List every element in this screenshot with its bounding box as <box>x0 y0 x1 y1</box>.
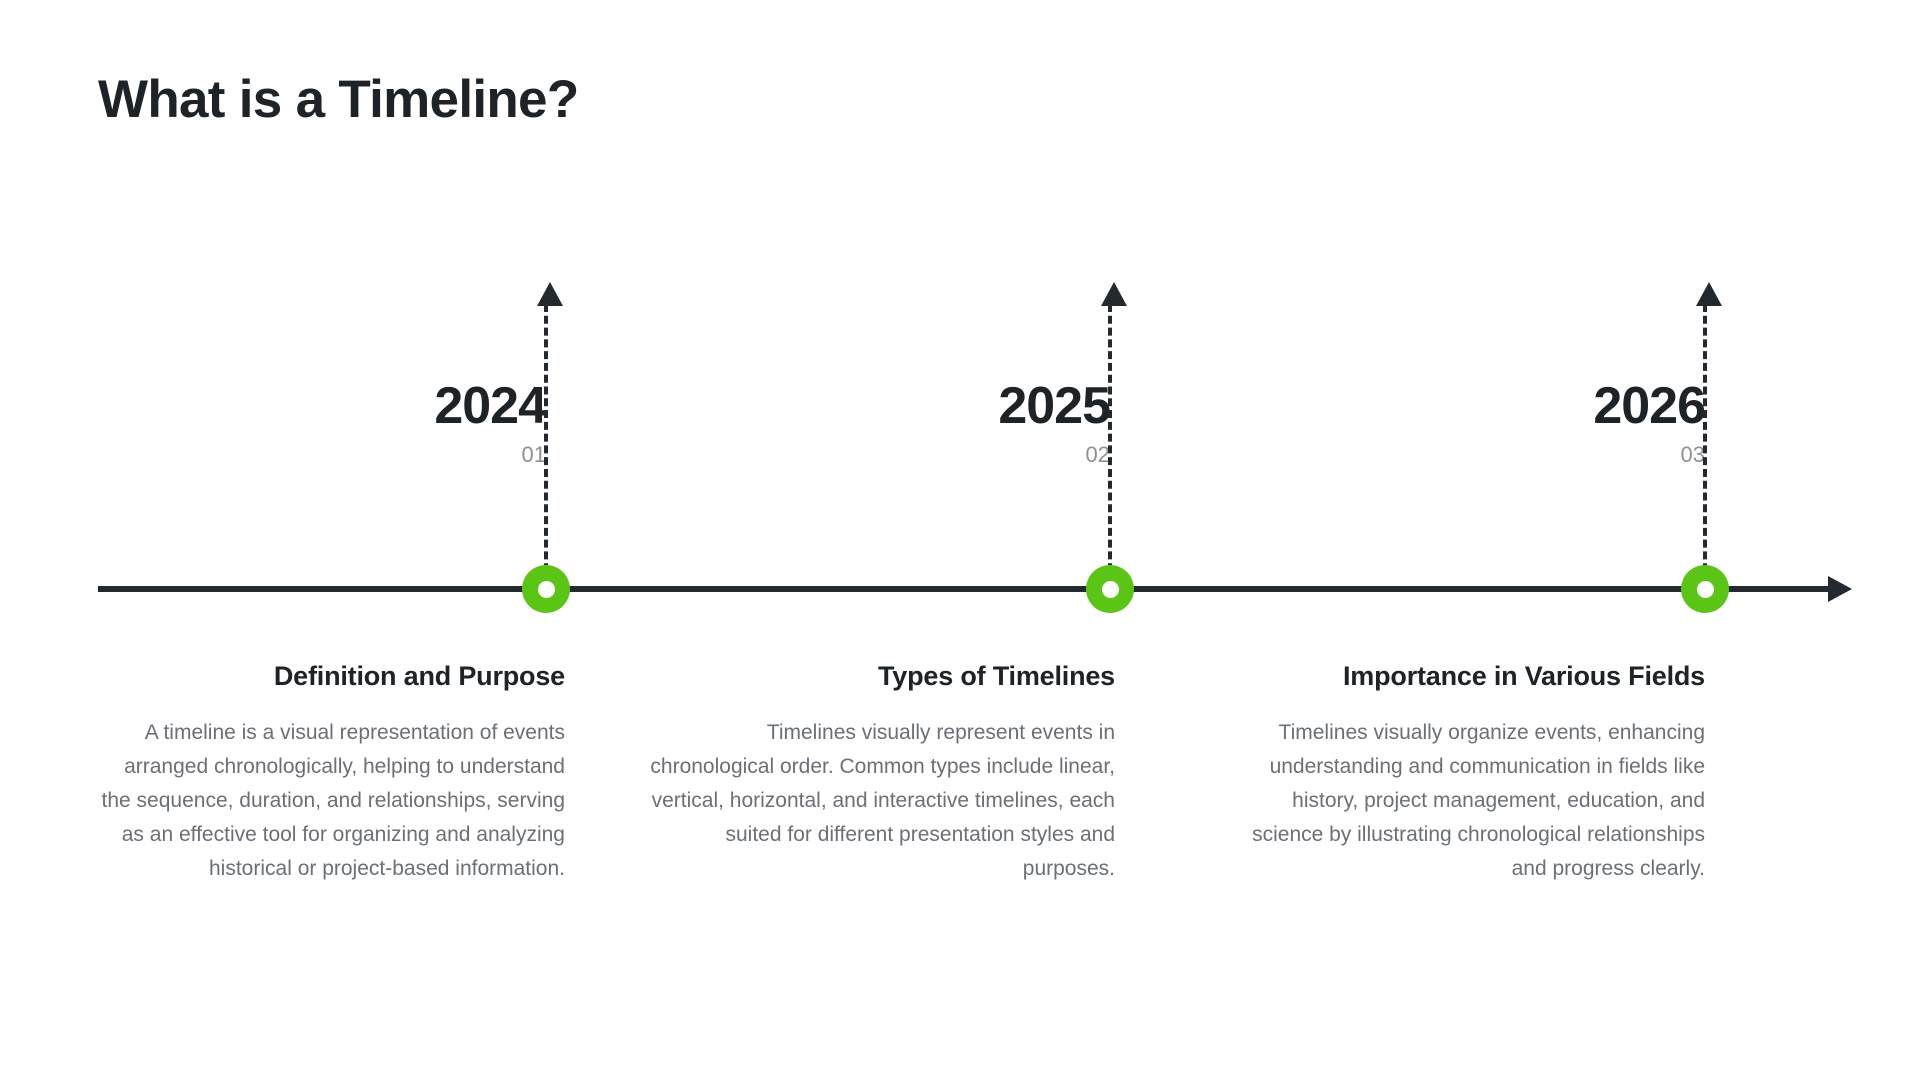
arrow-up-head-icon <box>1696 282 1722 306</box>
description-body-2: Timelines visually represent events in c… <box>645 716 1115 886</box>
circle-node-icon[interactable] <box>1681 565 1729 613</box>
year-index-3: 03 <box>1365 444 1705 466</box>
arrow-up-dashed-icon <box>544 304 548 583</box>
description-column-1: Definition and Purpose A timeline is a v… <box>95 660 565 886</box>
arrow-up-head-icon <box>1101 282 1127 306</box>
arrow-up-dashed-icon <box>1108 304 1112 583</box>
page-title: What is a Timeline? <box>98 68 579 132</box>
description-body-3: Timelines visually organize events, enha… <box>1235 716 1705 886</box>
year-block-1: 2024 01 <box>206 380 546 466</box>
timeline-axis <box>98 586 1850 592</box>
arrow-up-dashed-icon <box>1703 304 1707 583</box>
year-index-2: 02 <box>770 444 1110 466</box>
node-hole <box>538 581 555 598</box>
axis-line <box>98 586 1832 592</box>
node-hole <box>1102 581 1119 598</box>
timeline-slide: What is a Timeline? 2024 01 2025 02 2026… <box>0 0 1921 1080</box>
description-column-3: Importance in Various Fields Timelines v… <box>1235 660 1705 886</box>
description-body-1: A timeline is a visual representation of… <box>95 716 565 886</box>
circle-node-icon[interactable] <box>1086 565 1134 613</box>
description-column-2: Types of Timelines Timelines visually re… <box>645 660 1115 886</box>
arrow-up-head-icon <box>537 282 563 306</box>
year-label-3: 2026 <box>1365 380 1705 432</box>
year-label-1: 2024 <box>206 380 546 432</box>
circle-node-icon[interactable] <box>522 565 570 613</box>
description-heading-1: Definition and Purpose <box>95 660 565 694</box>
description-heading-2: Types of Timelines <box>645 660 1115 694</box>
year-block-3: 2026 03 <box>1365 380 1705 466</box>
year-block-2: 2025 02 <box>770 380 1110 466</box>
arrow-right-icon <box>1828 576 1852 602</box>
node-hole <box>1697 581 1714 598</box>
description-heading-3: Importance in Various Fields <box>1235 660 1705 694</box>
year-label-2: 2025 <box>770 380 1110 432</box>
year-index-1: 01 <box>206 444 546 466</box>
